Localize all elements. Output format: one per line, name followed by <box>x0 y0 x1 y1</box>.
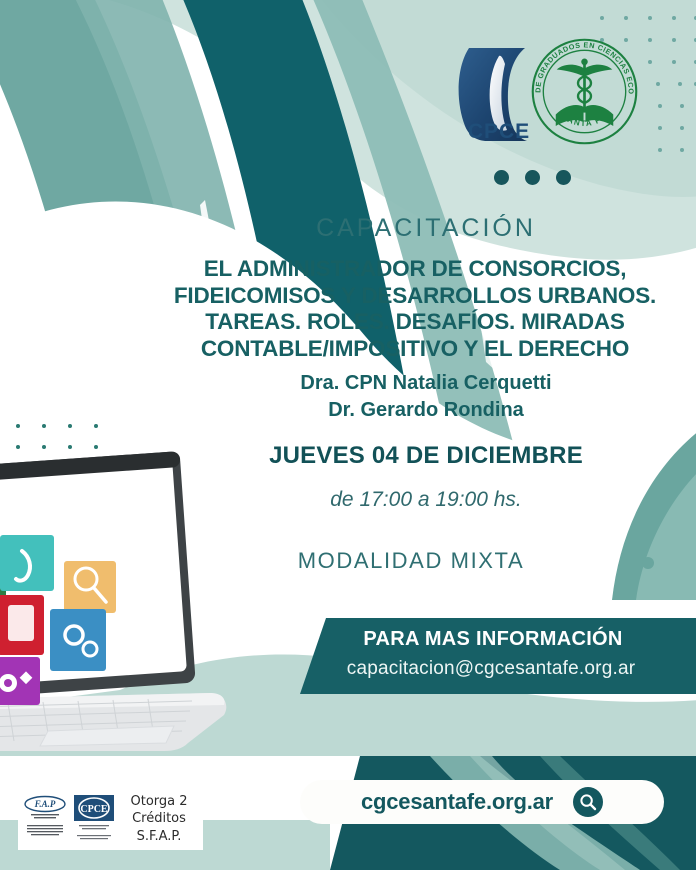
eyebrow-capacitacion: CAPACITACIÓN <box>196 214 656 243</box>
website-url: cgcesantafe.org.ar <box>361 789 553 815</box>
credits-line-3: S.F.A.P. <box>117 828 201 846</box>
fap-logo: F.A.P <box>22 793 68 845</box>
credits-logos: F.A.P CPCE <box>18 791 117 847</box>
svg-text:F.A.P: F.A.P <box>34 799 56 809</box>
title-line-3: TAREAS. ROLES. DESAFÍOS. MIRADAS <box>150 309 680 336</box>
credits-text: Otorga 2 Créditos S.F.A.P. <box>117 793 201 846</box>
speakers-list: Dra. CPN Natalia Cerquetti Dr. Gerardo R… <box>176 370 676 424</box>
credits-line-2: Créditos <box>117 810 201 828</box>
three-dots-separator <box>494 170 571 185</box>
cpce-seal-logo: CPCE <box>71 793 117 845</box>
website-pill[interactable]: cgcesantafe.org.ar <box>300 780 664 824</box>
event-time: de 17:00 a 19:00 hs. <box>176 488 676 512</box>
speaker-1: Dra. CPN Natalia Cerquetti <box>176 370 676 397</box>
title-line-2: FIDEICOMISOS Y DESARROLLOS URBANOS. <box>150 283 680 310</box>
speaker-2: Dr. Gerardo Rondina <box>176 397 676 424</box>
svg-text:CPCE: CPCE <box>80 804 108 815</box>
search-icon[interactable] <box>573 787 603 817</box>
event-modality: MODALIDAD MIXTA <box>176 548 646 574</box>
contact-heading: PARA MAS INFORMACIÓN <box>300 628 686 651</box>
event-title: EL ADMINISTRADOR DE CONSORCIOS, FIDEICOM… <box>150 256 680 362</box>
title-line-1: EL ADMINISTRADOR DE CONSORCIOS, <box>150 256 680 283</box>
credits-box: F.A.P CPCE Otorga 2 Créditos <box>18 788 203 850</box>
event-date: JUEVES 04 DE DICIEMBRE <box>176 442 676 470</box>
title-line-4: CONTABLE/IMPOSITIVO Y EL DERECHO <box>150 336 680 363</box>
cgce-santa-fe-logo: COLEGIO DE GRADUADOS EN CIENCIAS ECONÓMI… <box>527 34 642 149</box>
poster-canvas: CPCE COLEGIO DE GRADUADOS EN CIENCIAS EC… <box>0 0 696 870</box>
credits-line-1: Otorga 2 <box>117 793 201 811</box>
contact-email[interactable]: capacitacion@cgcesantafe.org.ar <box>296 658 686 680</box>
svg-text:CPCE: CPCE <box>468 120 530 143</box>
